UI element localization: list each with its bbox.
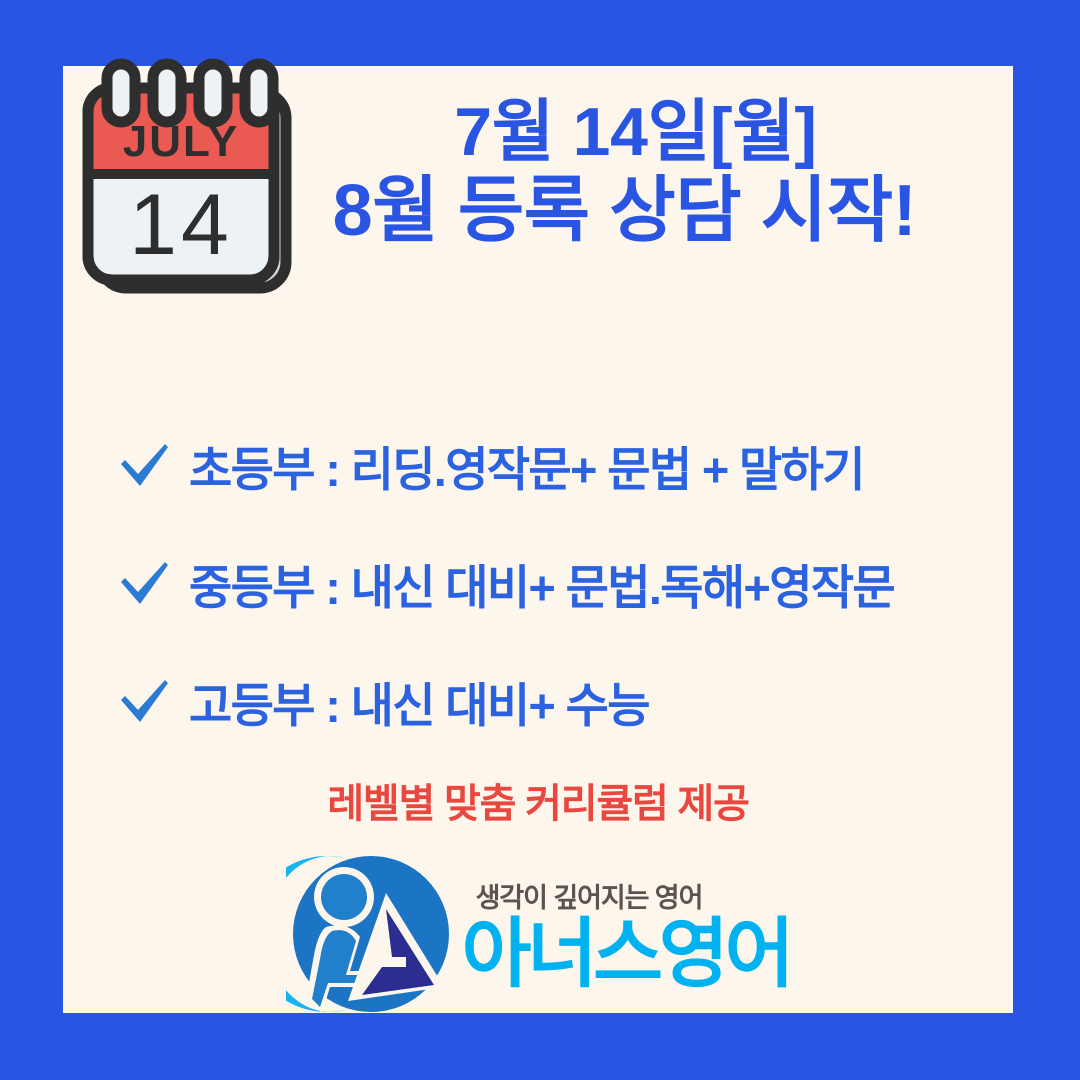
list-item: 중등부 : 내신 대비+ 문법.독해+영작문 [113, 524, 993, 642]
poster-card: JULY 14 7월 14일[월] 8월 등록 상담 시작! 초등부 : 리딩.… [63, 66, 1013, 1013]
list-item-label: 초등부 : 리딩.영작문+ 문법 + 말하기 [189, 431, 864, 500]
promo-tagline: 레벨별 맞춤 커리큘럼 제공 [63, 771, 1013, 829]
promo-poster: JULY 14 7월 14일[월] 8월 등록 상담 시작! 초등부 : 리딩.… [0, 0, 1080, 1080]
list-item-label: 고등부 : 내신 대비+ 수능 [189, 667, 649, 736]
list-item: 초등부 : 리딩.영작문+ 문법 + 말하기 [113, 406, 993, 524]
course-list: 초등부 : 리딩.영작문+ 문법 + 말하기 중등부 : 내신 대비+ 문법.독… [113, 406, 993, 760]
list-item-label: 중등부 : 내신 대비+ 문법.독해+영작문 [189, 549, 894, 618]
logo-figure-head [321, 874, 367, 920]
list-item: 고등부 : 내신 대비+ 수능 [113, 642, 993, 760]
check-icon [113, 552, 175, 614]
calendar-ring [199, 64, 227, 122]
logo-wordmark-group: 생각이 깊어지는 영어 아너스영어 [462, 876, 791, 993]
headline-line-2: 8월 등록 상담 시작! [241, 175, 1008, 248]
headline: 7월 14일[월] 8월 등록 상담 시작! [263, 98, 1008, 249]
logo-brand-name: 아너스영어 [462, 917, 791, 993]
calendar-month-label: JULY [123, 117, 239, 166]
check-icon [113, 670, 175, 732]
brand-logo: 생각이 깊어지는 영어 아너스영어 [63, 849, 1013, 1019]
calendar-day-label: 14 [129, 177, 233, 273]
calendar-ring [107, 64, 135, 122]
logo-slogan: 생각이 깊어지는 영어 [476, 876, 703, 915]
calendar-ring [153, 64, 181, 122]
honors-english-logo-mark [286, 849, 456, 1019]
check-icon [113, 434, 175, 496]
headline-line-1: 7월 14일[월] [263, 98, 1008, 167]
